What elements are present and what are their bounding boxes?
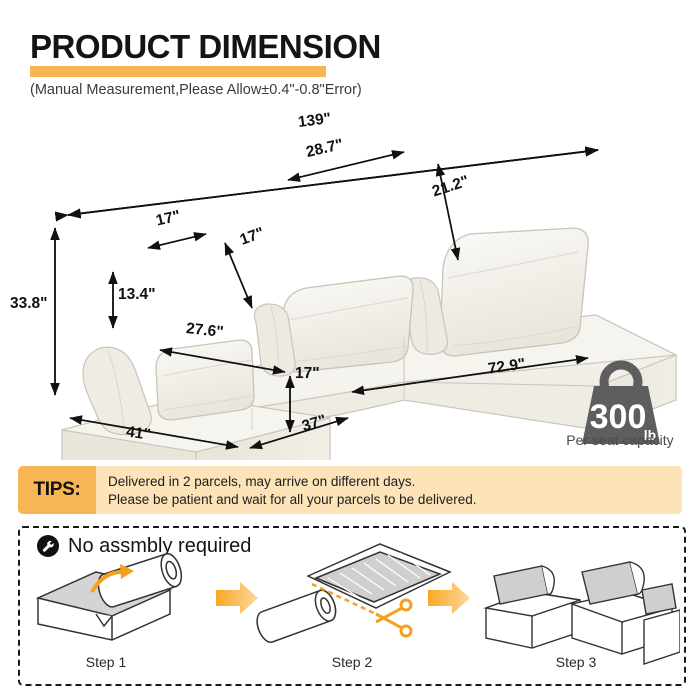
assembly-panel: No assmbly required [18, 526, 686, 686]
tips-line-2: Please be patient and wait for all your … [108, 491, 476, 509]
capacity-caption: Per seat capacity [540, 432, 700, 448]
title-underline [30, 66, 326, 77]
dimension-total-height: 33.8" [10, 295, 48, 313]
flow-arrow-1 [216, 582, 258, 614]
step-label-3: Step 3 [516, 654, 636, 670]
infographic-root: PRODUCT DIMENSION (Manual Measurement,Pl… [0, 0, 700, 700]
capacity-value: 300 [590, 398, 647, 436]
dimension-pillow-height: 13.4" [118, 286, 156, 304]
step2-illustration [253, 544, 450, 645]
tips-banner: TIPS: Delivered in 2 parcels, may arrive… [18, 466, 682, 514]
flow-arrow-2 [428, 582, 470, 614]
step-label-1: Step 1 [46, 654, 166, 670]
page-title: PRODUCT DIMENSION [30, 28, 381, 66]
tips-text: Delivered in 2 parcels, may arrive on di… [108, 473, 476, 508]
step3-illustration [486, 562, 680, 664]
header: PRODUCT DIMENSION (Manual Measurement,Pl… [0, 0, 700, 110]
step1-illustration [38, 551, 185, 640]
tips-line-1: Delivered in 2 parcels, may arrive on di… [108, 473, 476, 491]
measurement-disclaimer: (Manual Measurement,Please Allow±0.4"-0.… [30, 82, 362, 98]
step-label-2: Step 2 [292, 654, 412, 670]
dimension-seat-height: 17" [295, 365, 320, 383]
dimension-chaise-width: 41" [125, 423, 152, 444]
tips-tag-label: TIPS: [18, 466, 96, 514]
dimension-seat-depth: 27.6" [185, 320, 224, 342]
